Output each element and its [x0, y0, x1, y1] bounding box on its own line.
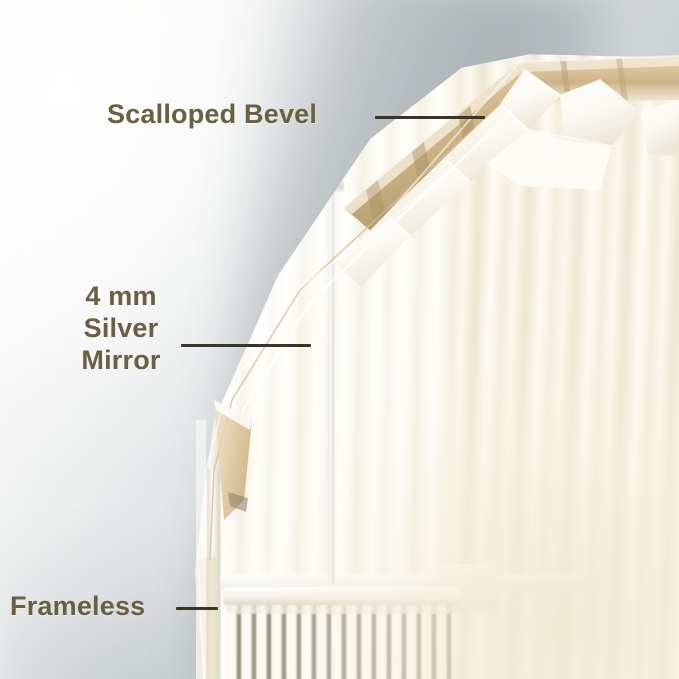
annotation-leader-scalloped-bevel [375, 116, 485, 119]
annotation-label-scalloped-bevel: Scalloped Bevel [107, 99, 317, 131]
annotation-leader-silver-mirror [181, 344, 311, 347]
annotation-leader-frameless [176, 607, 218, 610]
product-detail-image: Scalloped Bevel 4 mm Silver Mirror Frame… [0, 0, 679, 679]
annotation-label-frameless: Frameless [10, 591, 145, 623]
annotation-label-silver-mirror: 4 mm Silver Mirror [62, 281, 180, 377]
